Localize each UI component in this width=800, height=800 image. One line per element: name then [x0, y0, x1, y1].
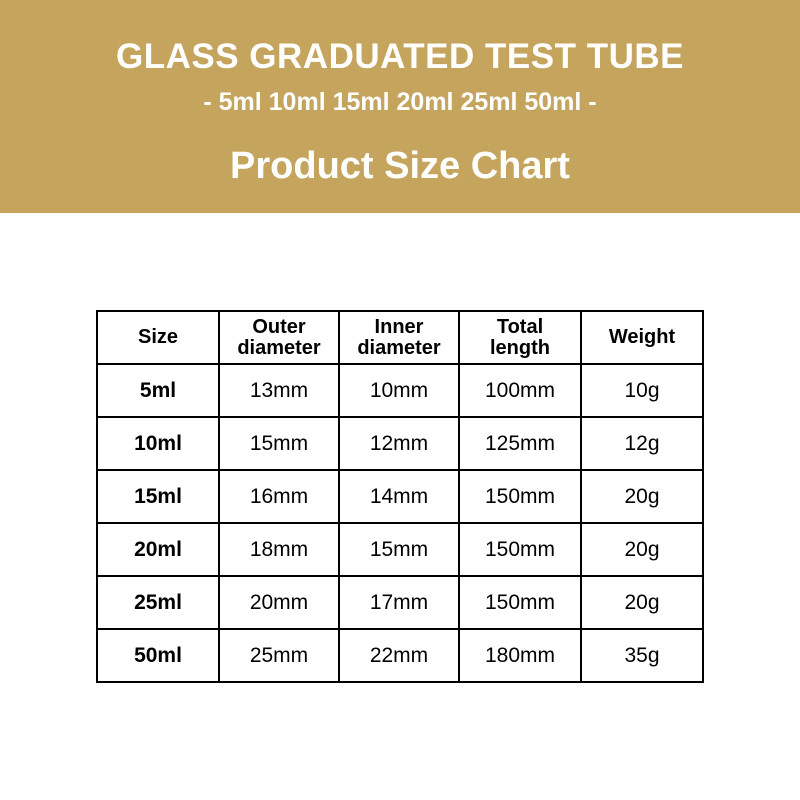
cell-outer-diameter: 20mm	[219, 576, 339, 629]
table-header-row: Size Outer diameter Inner diameter Total…	[97, 311, 703, 364]
table-row: 20ml 18mm 15mm 150mm 20g	[97, 523, 703, 576]
cell-outer-diameter: 18mm	[219, 523, 339, 576]
table-row: 10ml 15mm 12mm 125mm 12g	[97, 417, 703, 470]
product-size-table: Size Outer diameter Inner diameter Total…	[96, 310, 704, 683]
column-header-weight: Weight	[581, 311, 703, 364]
cell-size: 20ml	[97, 523, 219, 576]
table-header: Size Outer diameter Inner diameter Total…	[97, 311, 703, 364]
product-title: GLASS GRADUATED TEST TUBE	[116, 39, 684, 74]
column-header-outer-diameter-line2: diameter	[222, 338, 336, 359]
table-row: 50ml 25mm 22mm 180mm 35g	[97, 629, 703, 682]
cell-inner-diameter: 22mm	[339, 629, 459, 682]
column-header-total-length: Total length	[459, 311, 581, 364]
cell-weight: 35g	[581, 629, 703, 682]
cell-size: 5ml	[97, 364, 219, 417]
cell-weight: 10g	[581, 364, 703, 417]
cell-inner-diameter: 10mm	[339, 364, 459, 417]
column-header-inner-diameter: Inner diameter	[339, 311, 459, 364]
column-header-size-line1: Size	[100, 327, 216, 348]
cell-total-length: 150mm	[459, 470, 581, 523]
column-header-total-length-line1: Total	[462, 317, 578, 338]
cell-weight: 20g	[581, 523, 703, 576]
table-row: 25ml 20mm 17mm 150mm 20g	[97, 576, 703, 629]
cell-total-length: 180mm	[459, 629, 581, 682]
cell-size: 10ml	[97, 417, 219, 470]
header-banner: GLASS GRADUATED TEST TUBE - 5ml 10ml 15m…	[0, 0, 800, 213]
cell-inner-diameter: 17mm	[339, 576, 459, 629]
cell-size: 25ml	[97, 576, 219, 629]
cell-weight: 12g	[581, 417, 703, 470]
cell-inner-diameter: 15mm	[339, 523, 459, 576]
cell-weight: 20g	[581, 576, 703, 629]
cell-outer-diameter: 25mm	[219, 629, 339, 682]
cell-total-length: 150mm	[459, 576, 581, 629]
cell-total-length: 100mm	[459, 364, 581, 417]
cell-outer-diameter: 13mm	[219, 364, 339, 417]
cell-size: 15ml	[97, 470, 219, 523]
column-header-total-length-line2: length	[462, 338, 578, 359]
page-title: Product Size Chart	[230, 147, 570, 185]
cell-outer-diameter: 16mm	[219, 470, 339, 523]
column-header-outer-diameter: Outer diameter	[219, 311, 339, 364]
column-header-inner-diameter-line1: Inner	[342, 317, 456, 338]
cell-outer-diameter: 15mm	[219, 417, 339, 470]
product-variants-subtitle: - 5ml 10ml 15ml 20ml 25ml 50ml -	[203, 90, 596, 115]
table-row: 15ml 16mm 14mm 150mm 20g	[97, 470, 703, 523]
table-body: 5ml 13mm 10mm 100mm 10g 10ml 15mm 12mm 1…	[97, 364, 703, 682]
cell-total-length: 125mm	[459, 417, 581, 470]
cell-total-length: 150mm	[459, 523, 581, 576]
cell-size: 50ml	[97, 629, 219, 682]
column-header-inner-diameter-line2: diameter	[342, 338, 456, 359]
cell-weight: 20g	[581, 470, 703, 523]
cell-inner-diameter: 14mm	[339, 470, 459, 523]
column-header-outer-diameter-line1: Outer	[222, 317, 336, 338]
column-header-weight-line1: Weight	[584, 327, 700, 348]
size-chart-container: Size Outer diameter Inner diameter Total…	[96, 310, 702, 683]
cell-inner-diameter: 12mm	[339, 417, 459, 470]
table-row: 5ml 13mm 10mm 100mm 10g	[97, 364, 703, 417]
column-header-size: Size	[97, 311, 219, 364]
